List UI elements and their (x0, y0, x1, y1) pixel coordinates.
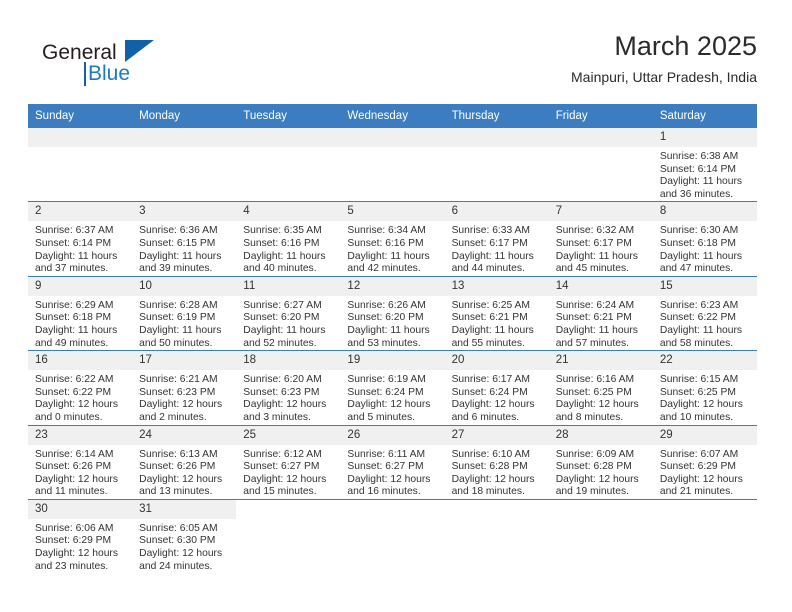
daylight-text: Daylight: 11 hours and 53 minutes. (347, 325, 440, 350)
sunset-text: Sunset: 6:28 PM (556, 461, 649, 474)
day-number: 23 (28, 426, 132, 445)
calendar-cell-empty (445, 128, 549, 202)
day-number: 13 (445, 277, 549, 296)
day-number: 24 (132, 426, 236, 445)
calendar-day-cell[interactable]: 9Sunrise: 6:29 AMSunset: 6:18 PMDaylight… (28, 276, 132, 350)
day-number: 12 (340, 277, 444, 296)
calendar-day-cell[interactable]: 2Sunrise: 6:37 AMSunset: 6:14 PMDaylight… (28, 202, 132, 276)
day-sun-info: Sunrise: 6:10 AMSunset: 6:28 PMDaylight:… (445, 445, 549, 499)
calendar-cell-empty (236, 499, 340, 573)
day-number (445, 500, 549, 519)
calendar-day-cell[interactable]: 7Sunrise: 6:32 AMSunset: 6:17 PMDaylight… (549, 202, 653, 276)
sunrise-text: Sunrise: 6:34 AM (347, 225, 440, 238)
day-number (549, 128, 653, 147)
calendar-day-cell[interactable]: 30Sunrise: 6:06 AMSunset: 6:29 PMDayligh… (28, 499, 132, 573)
day-cell-inner (236, 500, 340, 573)
day-sun-info: Sunrise: 6:34 AMSunset: 6:16 PMDaylight:… (340, 221, 444, 275)
daylight-text: Daylight: 12 hours and 23 minutes. (35, 548, 128, 573)
calendar-grid: Sunday Monday Tuesday Wednesday Thursday… (28, 104, 757, 573)
weekday-header-thursday: Thursday (445, 104, 549, 128)
calendar-day-cell[interactable]: 1Sunrise: 6:38 AMSunset: 6:14 PMDaylight… (653, 128, 757, 202)
day-cell-inner: 13Sunrise: 6:25 AMSunset: 6:21 PMDayligh… (445, 277, 549, 350)
calendar-week-row: 30Sunrise: 6:06 AMSunset: 6:29 PMDayligh… (28, 499, 757, 573)
day-number (445, 128, 549, 147)
day-number: 11 (236, 277, 340, 296)
calendar-day-cell[interactable]: 5Sunrise: 6:34 AMSunset: 6:16 PMDaylight… (340, 202, 444, 276)
daylight-text: Daylight: 11 hours and 37 minutes. (35, 251, 128, 276)
daylight-text: Daylight: 12 hours and 15 minutes. (243, 474, 336, 499)
daylight-text: Daylight: 12 hours and 24 minutes. (139, 548, 232, 573)
day-cell-inner: 3Sunrise: 6:36 AMSunset: 6:15 PMDaylight… (132, 202, 236, 275)
sunset-text: Sunset: 6:25 PM (660, 387, 753, 400)
sunset-text: Sunset: 6:24 PM (452, 387, 545, 400)
daylight-text: Daylight: 12 hours and 13 minutes. (139, 474, 232, 499)
daylight-text: Daylight: 12 hours and 8 minutes. (556, 399, 649, 424)
sunset-text: Sunset: 6:20 PM (347, 312, 440, 325)
sunrise-text: Sunrise: 6:28 AM (139, 300, 232, 313)
day-cell-inner: 4Sunrise: 6:35 AMSunset: 6:16 PMDaylight… (236, 202, 340, 275)
sunset-text: Sunset: 6:23 PM (243, 387, 336, 400)
day-number: 6 (445, 202, 549, 221)
page-subtitle: Mainpuri, Uttar Pradesh, India (571, 67, 757, 87)
day-cell-inner: 8Sunrise: 6:30 AMSunset: 6:18 PMDaylight… (653, 202, 757, 275)
day-cell-inner: 18Sunrise: 6:20 AMSunset: 6:23 PMDayligh… (236, 351, 340, 424)
sunset-text: Sunset: 6:18 PM (660, 238, 753, 251)
calendar-cell-empty (653, 499, 757, 573)
calendar-cell-empty (445, 499, 549, 573)
day-cell-inner: 24Sunrise: 6:13 AMSunset: 6:26 PMDayligh… (132, 426, 236, 499)
day-sun-info: Sunrise: 6:35 AMSunset: 6:16 PMDaylight:… (236, 221, 340, 275)
day-sun-info: Sunrise: 6:32 AMSunset: 6:17 PMDaylight:… (549, 221, 653, 275)
day-cell-inner: 23Sunrise: 6:14 AMSunset: 6:26 PMDayligh… (28, 426, 132, 499)
day-number: 26 (340, 426, 444, 445)
daylight-text: Daylight: 11 hours and 50 minutes. (139, 325, 232, 350)
day-cell-inner (28, 128, 132, 201)
calendar-day-cell[interactable]: 11Sunrise: 6:27 AMSunset: 6:20 PMDayligh… (236, 276, 340, 350)
day-number: 17 (132, 351, 236, 370)
daylight-text: Daylight: 11 hours and 47 minutes. (660, 251, 753, 276)
calendar-day-cell[interactable]: 3Sunrise: 6:36 AMSunset: 6:15 PMDaylight… (132, 202, 236, 276)
sunset-text: Sunset: 6:25 PM (556, 387, 649, 400)
calendar-cell-empty (28, 128, 132, 202)
day-cell-inner: 7Sunrise: 6:32 AMSunset: 6:17 PMDaylight… (549, 202, 653, 275)
daylight-text: Daylight: 12 hours and 0 minutes. (35, 399, 128, 424)
calendar-day-cell[interactable]: 8Sunrise: 6:30 AMSunset: 6:18 PMDaylight… (653, 202, 757, 276)
day-cell-inner: 19Sunrise: 6:19 AMSunset: 6:24 PMDayligh… (340, 351, 444, 424)
day-cell-inner: 29Sunrise: 6:07 AMSunset: 6:29 PMDayligh… (653, 426, 757, 499)
day-number (549, 500, 653, 519)
day-cell-inner: 9Sunrise: 6:29 AMSunset: 6:18 PMDaylight… (28, 277, 132, 350)
day-sun-info: Sunrise: 6:09 AMSunset: 6:28 PMDaylight:… (549, 445, 653, 499)
day-cell-inner: 22Sunrise: 6:15 AMSunset: 6:25 PMDayligh… (653, 351, 757, 424)
sunset-text: Sunset: 6:17 PM (556, 238, 649, 251)
calendar-day-cell[interactable]: 22Sunrise: 6:15 AMSunset: 6:25 PMDayligh… (653, 351, 757, 425)
sunrise-text: Sunrise: 6:37 AM (35, 225, 128, 238)
logo-text-general: General (42, 42, 117, 63)
sunrise-text: Sunrise: 6:05 AM (139, 523, 232, 536)
sunrise-text: Sunrise: 6:21 AM (139, 374, 232, 387)
sunrise-text: Sunrise: 6:19 AM (347, 374, 440, 387)
day-number (340, 500, 444, 519)
sunrise-text: Sunrise: 6:27 AM (243, 300, 336, 313)
day-cell-inner: 15Sunrise: 6:23 AMSunset: 6:22 PMDayligh… (653, 277, 757, 350)
calendar-day-cell[interactable]: 27Sunrise: 6:10 AMSunset: 6:28 PMDayligh… (445, 425, 549, 499)
day-sun-info: Sunrise: 6:37 AMSunset: 6:14 PMDaylight:… (28, 221, 132, 275)
day-number: 19 (340, 351, 444, 370)
logo-text-blue: Blue (88, 63, 130, 84)
calendar-page: General Blue March 2025 Mainpuri, Uttar … (0, 0, 792, 612)
day-sun-info: Sunrise: 6:20 AMSunset: 6:23 PMDaylight:… (236, 370, 340, 424)
day-cell-inner: 5Sunrise: 6:34 AMSunset: 6:16 PMDaylight… (340, 202, 444, 275)
day-sun-info: Sunrise: 6:05 AMSunset: 6:30 PMDaylight:… (132, 519, 236, 573)
calendar-day-cell[interactable]: 29Sunrise: 6:07 AMSunset: 6:29 PMDayligh… (653, 425, 757, 499)
day-sun-info: Sunrise: 6:17 AMSunset: 6:24 PMDaylight:… (445, 370, 549, 424)
day-sun-info: Sunrise: 6:11 AMSunset: 6:27 PMDaylight:… (340, 445, 444, 499)
day-number: 22 (653, 351, 757, 370)
calendar-day-cell[interactable]: 6Sunrise: 6:33 AMSunset: 6:17 PMDaylight… (445, 202, 549, 276)
day-number: 27 (445, 426, 549, 445)
daylight-text: Daylight: 12 hours and 10 minutes. (660, 399, 753, 424)
day-cell-inner: 17Sunrise: 6:21 AMSunset: 6:23 PMDayligh… (132, 351, 236, 424)
calendar-body: 1Sunrise: 6:38 AMSunset: 6:14 PMDaylight… (28, 128, 757, 573)
daylight-text: Daylight: 12 hours and 19 minutes. (556, 474, 649, 499)
sunset-text: Sunset: 6:29 PM (35, 535, 128, 548)
daylight-text: Daylight: 12 hours and 21 minutes. (660, 474, 753, 499)
daylight-text: Daylight: 12 hours and 6 minutes. (452, 399, 545, 424)
calendar-week-row: 16Sunrise: 6:22 AMSunset: 6:22 PMDayligh… (28, 351, 757, 425)
sunrise-text: Sunrise: 6:13 AM (139, 449, 232, 462)
day-number: 14 (549, 277, 653, 296)
day-cell-inner: 6Sunrise: 6:33 AMSunset: 6:17 PMDaylight… (445, 202, 549, 275)
sunset-text: Sunset: 6:16 PM (243, 238, 336, 251)
calendar-day-cell[interactable]: 20Sunrise: 6:17 AMSunset: 6:24 PMDayligh… (445, 351, 549, 425)
calendar-day-cell[interactable]: 28Sunrise: 6:09 AMSunset: 6:28 PMDayligh… (549, 425, 653, 499)
calendar-day-cell[interactable]: 12Sunrise: 6:26 AMSunset: 6:20 PMDayligh… (340, 276, 444, 350)
sunrise-text: Sunrise: 6:35 AM (243, 225, 336, 238)
sunrise-text: Sunrise: 6:06 AM (35, 523, 128, 536)
sunset-text: Sunset: 6:21 PM (556, 312, 649, 325)
sunset-text: Sunset: 6:23 PM (139, 387, 232, 400)
day-number: 31 (132, 500, 236, 519)
day-cell-inner (340, 128, 444, 201)
logo-divider (84, 62, 86, 86)
sunset-text: Sunset: 6:27 PM (347, 461, 440, 474)
day-number: 18 (236, 351, 340, 370)
daylight-text: Daylight: 11 hours and 58 minutes. (660, 325, 753, 350)
sunset-text: Sunset: 6:22 PM (660, 312, 753, 325)
day-sun-info: Sunrise: 6:12 AMSunset: 6:27 PMDaylight:… (236, 445, 340, 499)
sunset-text: Sunset: 6:22 PM (35, 387, 128, 400)
day-cell-inner: 10Sunrise: 6:28 AMSunset: 6:19 PMDayligh… (132, 277, 236, 350)
sunset-text: Sunset: 6:24 PM (347, 387, 440, 400)
day-cell-inner: 11Sunrise: 6:27 AMSunset: 6:20 PMDayligh… (236, 277, 340, 350)
day-sun-info: Sunrise: 6:30 AMSunset: 6:18 PMDaylight:… (653, 221, 757, 275)
sunrise-text: Sunrise: 6:14 AM (35, 449, 128, 462)
day-number: 7 (549, 202, 653, 221)
day-number (28, 128, 132, 147)
day-sun-info: Sunrise: 6:19 AMSunset: 6:24 PMDaylight:… (340, 370, 444, 424)
day-cell-inner: 21Sunrise: 6:16 AMSunset: 6:25 PMDayligh… (549, 351, 653, 424)
day-cell-inner (653, 500, 757, 573)
calendar-day-cell[interactable]: 16Sunrise: 6:22 AMSunset: 6:22 PMDayligh… (28, 351, 132, 425)
page-header: General Blue March 2025 Mainpuri, Uttar … (28, 30, 757, 92)
day-cell-inner: 2Sunrise: 6:37 AMSunset: 6:14 PMDaylight… (28, 202, 132, 275)
sunrise-text: Sunrise: 6:20 AM (243, 374, 336, 387)
day-number: 5 (340, 202, 444, 221)
sunset-text: Sunset: 6:21 PM (452, 312, 545, 325)
page-title: March 2025 (571, 30, 757, 62)
day-cell-inner: 31Sunrise: 6:05 AMSunset: 6:30 PMDayligh… (132, 500, 236, 573)
daylight-text: Daylight: 11 hours and 57 minutes. (556, 325, 649, 350)
daylight-text: Daylight: 12 hours and 2 minutes. (139, 399, 232, 424)
weekday-header-sunday: Sunday (28, 104, 132, 128)
day-sun-info: Sunrise: 6:22 AMSunset: 6:22 PMDaylight:… (28, 370, 132, 424)
daylight-text: Daylight: 12 hours and 5 minutes. (347, 399, 440, 424)
sunset-text: Sunset: 6:27 PM (243, 461, 336, 474)
day-cell-inner: 28Sunrise: 6:09 AMSunset: 6:28 PMDayligh… (549, 426, 653, 499)
calendar-day-cell[interactable]: 18Sunrise: 6:20 AMSunset: 6:23 PMDayligh… (236, 351, 340, 425)
sunset-text: Sunset: 6:26 PM (139, 461, 232, 474)
title-block: March 2025 Mainpuri, Uttar Pradesh, Indi… (571, 30, 757, 87)
day-sun-info: Sunrise: 6:27 AMSunset: 6:20 PMDaylight:… (236, 296, 340, 350)
day-sun-info: Sunrise: 6:06 AMSunset: 6:29 PMDaylight:… (28, 519, 132, 573)
sunset-text: Sunset: 6:14 PM (660, 164, 753, 177)
sunrise-text: Sunrise: 6:11 AM (347, 449, 440, 462)
calendar-week-row: 2Sunrise: 6:37 AMSunset: 6:14 PMDaylight… (28, 202, 757, 276)
day-number: 29 (653, 426, 757, 445)
day-number (236, 500, 340, 519)
calendar-week-row: 23Sunrise: 6:14 AMSunset: 6:26 PMDayligh… (28, 425, 757, 499)
weekday-header-monday: Monday (132, 104, 236, 128)
weekday-header-wednesday: Wednesday (340, 104, 444, 128)
day-sun-info: Sunrise: 6:13 AMSunset: 6:26 PMDaylight:… (132, 445, 236, 499)
day-number (132, 128, 236, 147)
day-number: 3 (132, 202, 236, 221)
calendar-day-cell[interactable]: 14Sunrise: 6:24 AMSunset: 6:21 PMDayligh… (549, 276, 653, 350)
day-sun-info: Sunrise: 6:23 AMSunset: 6:22 PMDaylight:… (653, 296, 757, 350)
sunset-text: Sunset: 6:19 PM (139, 312, 232, 325)
sunrise-text: Sunrise: 6:16 AM (556, 374, 649, 387)
daylight-text: Daylight: 11 hours and 44 minutes. (452, 251, 545, 276)
daylight-text: Daylight: 12 hours and 11 minutes. (35, 474, 128, 499)
day-sun-info: Sunrise: 6:16 AMSunset: 6:25 PMDaylight:… (549, 370, 653, 424)
sunrise-text: Sunrise: 6:15 AM (660, 374, 753, 387)
sunrise-text: Sunrise: 6:25 AM (452, 300, 545, 313)
day-sun-info: Sunrise: 6:38 AMSunset: 6:14 PMDaylight:… (653, 147, 757, 201)
day-sun-info: Sunrise: 6:26 AMSunset: 6:20 PMDaylight:… (340, 296, 444, 350)
logo-flag-icon (125, 40, 154, 62)
sunset-text: Sunset: 6:15 PM (139, 238, 232, 251)
calendar-day-cell[interactable]: 24Sunrise: 6:13 AMSunset: 6:26 PMDayligh… (132, 425, 236, 499)
day-cell-inner: 16Sunrise: 6:22 AMSunset: 6:22 PMDayligh… (28, 351, 132, 424)
day-cell-inner: 30Sunrise: 6:06 AMSunset: 6:29 PMDayligh… (28, 500, 132, 573)
sunset-text: Sunset: 6:18 PM (35, 312, 128, 325)
sunrise-text: Sunrise: 6:23 AM (660, 300, 753, 313)
day-number: 21 (549, 351, 653, 370)
sunrise-text: Sunrise: 6:24 AM (556, 300, 649, 313)
daylight-text: Daylight: 11 hours and 45 minutes. (556, 251, 649, 276)
day-cell-inner: 1Sunrise: 6:38 AMSunset: 6:14 PMDaylight… (653, 128, 757, 201)
calendar-day-cell[interactable]: 21Sunrise: 6:16 AMSunset: 6:25 PMDayligh… (549, 351, 653, 425)
weekday-header-saturday: Saturday (653, 104, 757, 128)
day-number: 4 (236, 202, 340, 221)
day-number: 25 (236, 426, 340, 445)
calendar-day-cell[interactable]: 31Sunrise: 6:05 AMSunset: 6:30 PMDayligh… (132, 499, 236, 573)
sunrise-text: Sunrise: 6:07 AM (660, 449, 753, 462)
calendar-cell-empty (340, 499, 444, 573)
sunset-text: Sunset: 6:17 PM (452, 238, 545, 251)
sunset-text: Sunset: 6:28 PM (452, 461, 545, 474)
sunrise-text: Sunrise: 6:17 AM (452, 374, 545, 387)
day-sun-info: Sunrise: 6:33 AMSunset: 6:17 PMDaylight:… (445, 221, 549, 275)
day-number: 15 (653, 277, 757, 296)
day-number: 1 (653, 128, 757, 147)
day-cell-inner: 27Sunrise: 6:10 AMSunset: 6:28 PMDayligh… (445, 426, 549, 499)
calendar-week-row: 9Sunrise: 6:29 AMSunset: 6:18 PMDaylight… (28, 276, 757, 350)
daylight-text: Daylight: 11 hours and 39 minutes. (139, 251, 232, 276)
day-cell-inner (236, 128, 340, 201)
sunrise-text: Sunrise: 6:09 AM (556, 449, 649, 462)
calendar-cell-empty (549, 499, 653, 573)
day-sun-info: Sunrise: 6:24 AMSunset: 6:21 PMDaylight:… (549, 296, 653, 350)
day-cell-inner (445, 500, 549, 573)
daylight-text: Daylight: 11 hours and 40 minutes. (243, 251, 336, 276)
daylight-text: Daylight: 12 hours and 3 minutes. (243, 399, 336, 424)
day-cell-inner (132, 128, 236, 201)
sunrise-text: Sunrise: 6:32 AM (556, 225, 649, 238)
sunset-text: Sunset: 6:30 PM (139, 535, 232, 548)
sunrise-text: Sunrise: 6:38 AM (660, 151, 753, 164)
sunset-text: Sunset: 6:16 PM (347, 238, 440, 251)
day-number: 8 (653, 202, 757, 221)
sunrise-text: Sunrise: 6:36 AM (139, 225, 232, 238)
calendar-day-cell[interactable]: 15Sunrise: 6:23 AMSunset: 6:22 PMDayligh… (653, 276, 757, 350)
general-blue-logo[interactable]: General Blue (28, 34, 258, 90)
calendar-day-cell[interactable]: 19Sunrise: 6:19 AMSunset: 6:24 PMDayligh… (340, 351, 444, 425)
calendar-cell-empty (549, 128, 653, 202)
day-number: 10 (132, 277, 236, 296)
day-number: 30 (28, 500, 132, 519)
sunrise-text: Sunrise: 6:29 AM (35, 300, 128, 313)
calendar-day-cell[interactable]: 10Sunrise: 6:28 AMSunset: 6:19 PMDayligh… (132, 276, 236, 350)
day-number: 20 (445, 351, 549, 370)
daylight-text: Daylight: 11 hours and 49 minutes. (35, 325, 128, 350)
sunset-text: Sunset: 6:29 PM (660, 461, 753, 474)
day-cell-inner: 12Sunrise: 6:26 AMSunset: 6:20 PMDayligh… (340, 277, 444, 350)
day-number: 2 (28, 202, 132, 221)
sunrise-text: Sunrise: 6:22 AM (35, 374, 128, 387)
calendar-week-row: 1Sunrise: 6:38 AMSunset: 6:14 PMDaylight… (28, 128, 757, 202)
weekday-header-friday: Friday (549, 104, 653, 128)
day-cell-inner (340, 500, 444, 573)
sunset-text: Sunset: 6:26 PM (35, 461, 128, 474)
day-number (653, 500, 757, 519)
day-sun-info: Sunrise: 6:14 AMSunset: 6:26 PMDaylight:… (28, 445, 132, 499)
sunrise-text: Sunrise: 6:33 AM (452, 225, 545, 238)
day-sun-info: Sunrise: 6:21 AMSunset: 6:23 PMDaylight:… (132, 370, 236, 424)
weekday-header-tuesday: Tuesday (236, 104, 340, 128)
calendar-cell-empty (236, 128, 340, 202)
calendar-day-cell[interactable]: 4Sunrise: 6:35 AMSunset: 6:16 PMDaylight… (236, 202, 340, 276)
weekday-header-row: Sunday Monday Tuesday Wednesday Thursday… (28, 104, 757, 128)
calendar-day-cell[interactable]: 23Sunrise: 6:14 AMSunset: 6:26 PMDayligh… (28, 425, 132, 499)
calendar-cell-empty (132, 128, 236, 202)
day-cell-inner: 20Sunrise: 6:17 AMSunset: 6:24 PMDayligh… (445, 351, 549, 424)
day-cell-inner: 26Sunrise: 6:11 AMSunset: 6:27 PMDayligh… (340, 426, 444, 499)
daylight-text: Daylight: 11 hours and 36 minutes. (660, 176, 753, 201)
sunrise-text: Sunrise: 6:10 AM (452, 449, 545, 462)
daylight-text: Daylight: 11 hours and 52 minutes. (243, 325, 336, 350)
day-number: 28 (549, 426, 653, 445)
daylight-text: Daylight: 11 hours and 42 minutes. (347, 251, 440, 276)
day-number (340, 128, 444, 147)
day-number: 9 (28, 277, 132, 296)
day-sun-info: Sunrise: 6:28 AMSunset: 6:19 PMDaylight:… (132, 296, 236, 350)
daylight-text: Daylight: 12 hours and 16 minutes. (347, 474, 440, 499)
sunrise-text: Sunrise: 6:26 AM (347, 300, 440, 313)
sunset-text: Sunset: 6:14 PM (35, 238, 128, 251)
sunset-text: Sunset: 6:20 PM (243, 312, 336, 325)
sunrise-text: Sunrise: 6:12 AM (243, 449, 336, 462)
day-sun-info: Sunrise: 6:36 AMSunset: 6:15 PMDaylight:… (132, 221, 236, 275)
calendar-day-cell[interactable]: 13Sunrise: 6:25 AMSunset: 6:21 PMDayligh… (445, 276, 549, 350)
day-cell-inner (445, 128, 549, 201)
day-number: 16 (28, 351, 132, 370)
daylight-text: Daylight: 12 hours and 18 minutes. (452, 474, 545, 499)
day-sun-info: Sunrise: 6:07 AMSunset: 6:29 PMDaylight:… (653, 445, 757, 499)
daylight-text: Daylight: 11 hours and 55 minutes. (452, 325, 545, 350)
day-cell-inner: 25Sunrise: 6:12 AMSunset: 6:27 PMDayligh… (236, 426, 340, 499)
day-cell-inner (549, 128, 653, 201)
calendar-day-cell[interactable]: 25Sunrise: 6:12 AMSunset: 6:27 PMDayligh… (236, 425, 340, 499)
day-number (236, 128, 340, 147)
day-sun-info: Sunrise: 6:29 AMSunset: 6:18 PMDaylight:… (28, 296, 132, 350)
day-sun-info: Sunrise: 6:15 AMSunset: 6:25 PMDaylight:… (653, 370, 757, 424)
calendar-cell-empty (340, 128, 444, 202)
day-sun-info: Sunrise: 6:25 AMSunset: 6:21 PMDaylight:… (445, 296, 549, 350)
day-cell-inner (549, 500, 653, 573)
sunrise-text: Sunrise: 6:30 AM (660, 225, 753, 238)
calendar-day-cell[interactable]: 17Sunrise: 6:21 AMSunset: 6:23 PMDayligh… (132, 351, 236, 425)
calendar-day-cell[interactable]: 26Sunrise: 6:11 AMSunset: 6:27 PMDayligh… (340, 425, 444, 499)
day-cell-inner: 14Sunrise: 6:24 AMSunset: 6:21 PMDayligh… (549, 277, 653, 350)
